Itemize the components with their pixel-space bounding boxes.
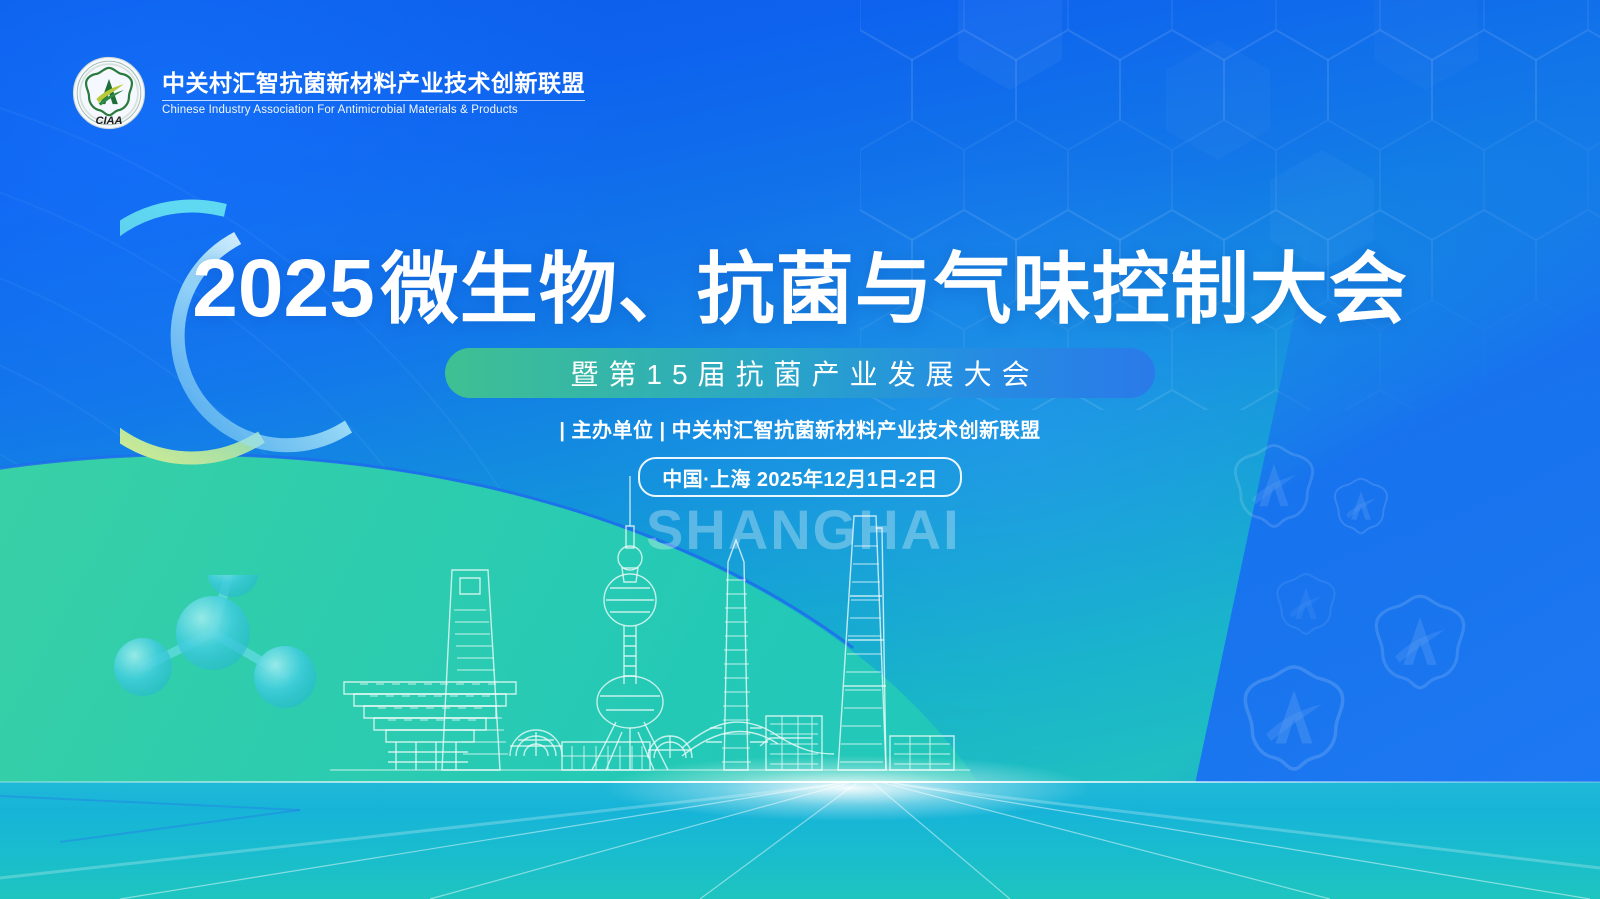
city-watermark: SHANGHAI [646, 497, 961, 562]
ciaa-star-badge-logo-icon: CIAA [72, 56, 146, 130]
title-block: 2025微生物、抗菌与气味控制大会 暨第15届抗菌产业发展大会 | 主办单位 |… [0, 246, 1600, 497]
date-location-badge: 中国·上海 2025年12月1日-2日 [638, 457, 961, 497]
subtitle-text: 暨第15届抗菌产业发展大会 [560, 353, 1039, 393]
horizon-glow [0, 740, 1600, 836]
title-main: 微生物、抗菌与气味控制大会 [381, 245, 1408, 333]
association-name-en: Chinese Industry Association For Antimic… [162, 104, 585, 118]
title-year: 2025 [192, 243, 374, 334]
svg-text:CIAA: CIAA [95, 115, 122, 127]
date-badge-wrap: 中国·上海 2025年12月1日-2日 [0, 443, 1600, 497]
banner-canvas: SHANGHAI [0, 0, 1600, 899]
page-title: 2025微生物、抗菌与气味控制大会 [0, 246, 1600, 332]
ciaa-star-watermark-icon [1272, 570, 1340, 638]
header-logo-text: 中关村汇智抗菌新材料产业技术创新联盟 Chinese Industry Asso… [162, 68, 585, 118]
logo-divider [162, 100, 585, 101]
association-name-cn: 中关村汇智抗菌新材料产业技术创新联盟 [162, 70, 585, 98]
header-logo-block: CIAA 中关村汇智抗菌新材料产业技术创新联盟 Chinese Industry… [72, 56, 585, 130]
subtitle-pill: 暨第15届抗菌产业发展大会 [445, 348, 1155, 398]
organizer-line: | 主办单位 | 中关村汇智抗菌新材料产业技术创新联盟 [0, 414, 1600, 443]
ciaa-star-watermark-icon [1368, 590, 1472, 694]
horizon-line [0, 781, 1600, 783]
